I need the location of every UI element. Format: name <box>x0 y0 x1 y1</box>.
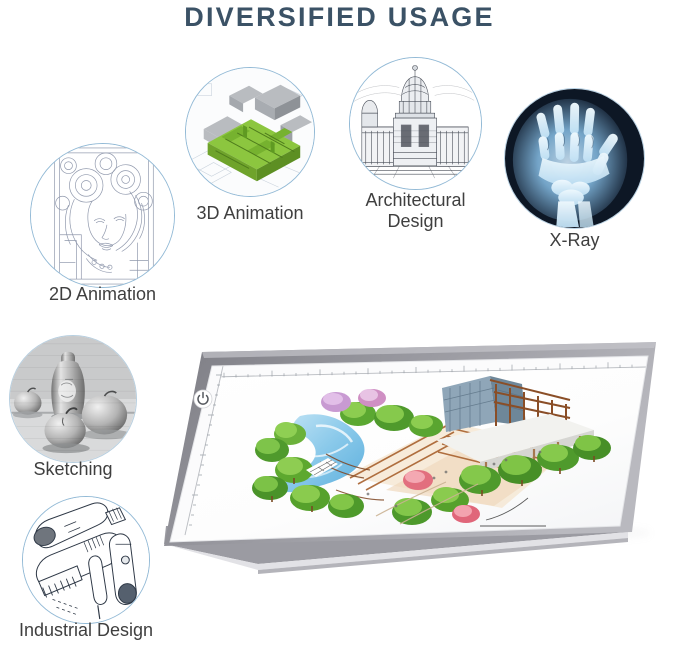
usage-label-x-ray: X-Ray <box>494 230 655 251</box>
hand-xray-icon <box>504 88 645 229</box>
usage-item-sketching[interactable]: Sketching <box>9 335 137 463</box>
usage-item-3d-animation[interactable]: 3D Animation <box>185 67 315 197</box>
usage-label-industrial-design: Industrial Design <box>0 620 172 641</box>
usage-item-architectural-design[interactable]: Architectural Design <box>349 57 482 190</box>
page-title: DIVERSIFIED USAGE <box>0 2 679 33</box>
usage-label-architectural-design: Architectural Design <box>339 190 492 232</box>
usage-item-x-ray[interactable]: X-Ray <box>504 88 645 229</box>
usage-label-2d-animation: 2D Animation <box>0 284 205 305</box>
power-icon <box>194 390 212 408</box>
usage-label-3d-animation: 3D Animation <box>170 203 330 224</box>
infographic-page: DIVERSIFIED USAGE <box>0 0 679 647</box>
usage-item-industrial-design[interactable]: Industrial Design <box>22 496 150 624</box>
light-pad[interactable] <box>150 330 679 580</box>
usage-item-2d-animation[interactable]: 2D Animation <box>30 143 175 288</box>
line-art-woman-portrait-icon <box>30 143 175 288</box>
light-pad-illustration <box>150 330 679 580</box>
green-3d-floorplan-icon <box>185 67 315 197</box>
domed-building-ink-drawing-icon <box>349 57 482 190</box>
usage-label-sketching: Sketching <box>0 459 147 480</box>
product-line-drawing-icon <box>22 496 150 624</box>
still-life-pencil-sketch-icon <box>9 335 137 463</box>
